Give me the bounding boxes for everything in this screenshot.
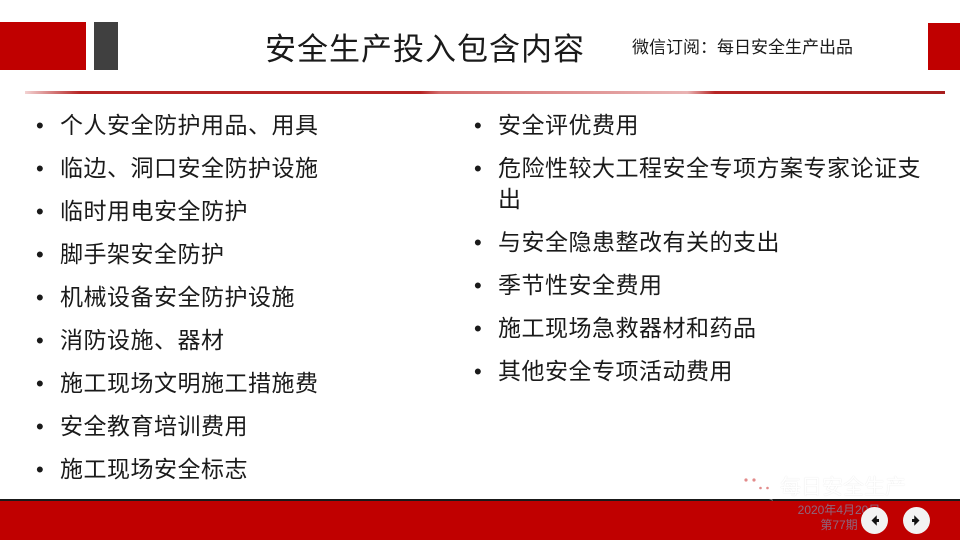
bullet-right-item: •季节性安全费用 <box>468 270 938 301</box>
bullet-point-icon: • <box>30 239 60 270</box>
header-red-block-left <box>0 22 86 70</box>
bullet-right-item: •其他安全专项活动费用 <box>468 356 938 387</box>
bullet-left-label: 安全教育培训费用 <box>60 411 460 442</box>
bullet-right-item: •安全评优费用 <box>468 110 938 141</box>
bullet-left-label: 脚手架安全防护 <box>60 239 460 270</box>
bullet-point-icon: • <box>30 411 60 442</box>
bullet-left-label: 机械设备安全防护设施 <box>60 282 460 313</box>
bullet-left-label: 临边、洞口安全防护设施 <box>60 153 460 184</box>
bullet-left-label: 临时用电安全防护 <box>60 196 460 227</box>
bullet-right-label: 安全评优费用 <box>498 110 938 141</box>
arrow-right-icon <box>909 513 924 528</box>
bullet-left-label: 消防设施、器材 <box>60 325 460 356</box>
bullet-left-label: 个人安全防护用品、用具 <box>60 110 460 141</box>
footer-bar <box>0 501 960 540</box>
bullet-point-icon: • <box>468 270 498 301</box>
arrow-left-icon <box>867 513 882 528</box>
bullet-left-label: 施工现场文明施工措施费 <box>60 368 460 399</box>
bullet-point-icon: • <box>30 196 60 227</box>
bullet-right-item: •与安全隐患整改有关的支出 <box>468 227 938 258</box>
slide-subtitle: 微信订阅：每日安全生产出品 <box>632 33 853 58</box>
bullet-point-icon: • <box>468 153 498 184</box>
bullet-point-icon: • <box>468 356 498 387</box>
header-red-block-right <box>928 23 960 70</box>
bullet-right-label: 与安全隐患整改有关的支出 <box>498 227 938 258</box>
bullet-right-label: 季节性安全费用 <box>498 270 938 301</box>
bullet-point-icon: • <box>30 368 60 399</box>
bullet-left-item: •施工现场安全标志 <box>30 454 460 485</box>
bullet-point-icon: • <box>30 110 60 141</box>
bullet-point-icon: • <box>468 227 498 258</box>
bullet-left-item: •安全教育培训费用 <box>30 411 460 442</box>
bullet-right-item: •危险性较大工程安全专项方案专家论证支出 <box>468 153 938 215</box>
bullet-right-item: •施工现场急救器材和药品 <box>468 313 938 344</box>
bullet-left-item: •脚手架安全防护 <box>30 239 460 270</box>
bullet-left-item: •个人安全防护用品、用具 <box>30 110 460 141</box>
bullet-left-item: •临边、洞口安全防护设施 <box>30 153 460 184</box>
bullet-right-label: 施工现场急救器材和药品 <box>498 313 938 344</box>
bullet-list-right: •安全评优费用•危险性较大工程安全专项方案专家论证支出•与安全隐患整改有关的支出… <box>468 110 938 399</box>
next-slide-button[interactable] <box>903 507 930 534</box>
prev-slide-button[interactable] <box>861 507 888 534</box>
wechat-icon <box>736 470 776 502</box>
bullet-point-icon: • <box>30 454 60 485</box>
bullet-left-item: •消防设施、器材 <box>30 325 460 356</box>
bullet-list-left: •个人安全防护用品、用具•临边、洞口安全防护设施•临时用电安全防护•脚手架安全防… <box>30 110 460 497</box>
bullet-left-label: 施工现场安全标志 <box>60 454 460 485</box>
watermark-label: 每日安全生产 <box>780 471 906 501</box>
slide-canvas: 安全生产投入包含内容 微信订阅：每日安全生产出品 •个人安全防护用品、用具•临边… <box>0 0 960 540</box>
bullet-left-item: •施工现场文明施工措施费 <box>30 368 460 399</box>
bullet-right-label: 其他安全专项活动费用 <box>498 356 938 387</box>
bullet-point-icon: • <box>468 313 498 344</box>
bullet-right-label: 危险性较大工程安全专项方案专家论证支出 <box>498 153 938 215</box>
header-gray-block-left <box>94 22 118 70</box>
bullet-point-icon: • <box>30 325 60 356</box>
bullet-left-item: •临时用电安全防护 <box>30 196 460 227</box>
bullet-point-icon: • <box>468 110 498 141</box>
bullet-point-icon: • <box>30 153 60 184</box>
slide-title: 安全生产投入包含内容 <box>230 27 620 73</box>
title-divider-line <box>25 91 945 94</box>
bullet-left-item: •机械设备安全防护设施 <box>30 282 460 313</box>
bullet-point-icon: • <box>30 282 60 313</box>
